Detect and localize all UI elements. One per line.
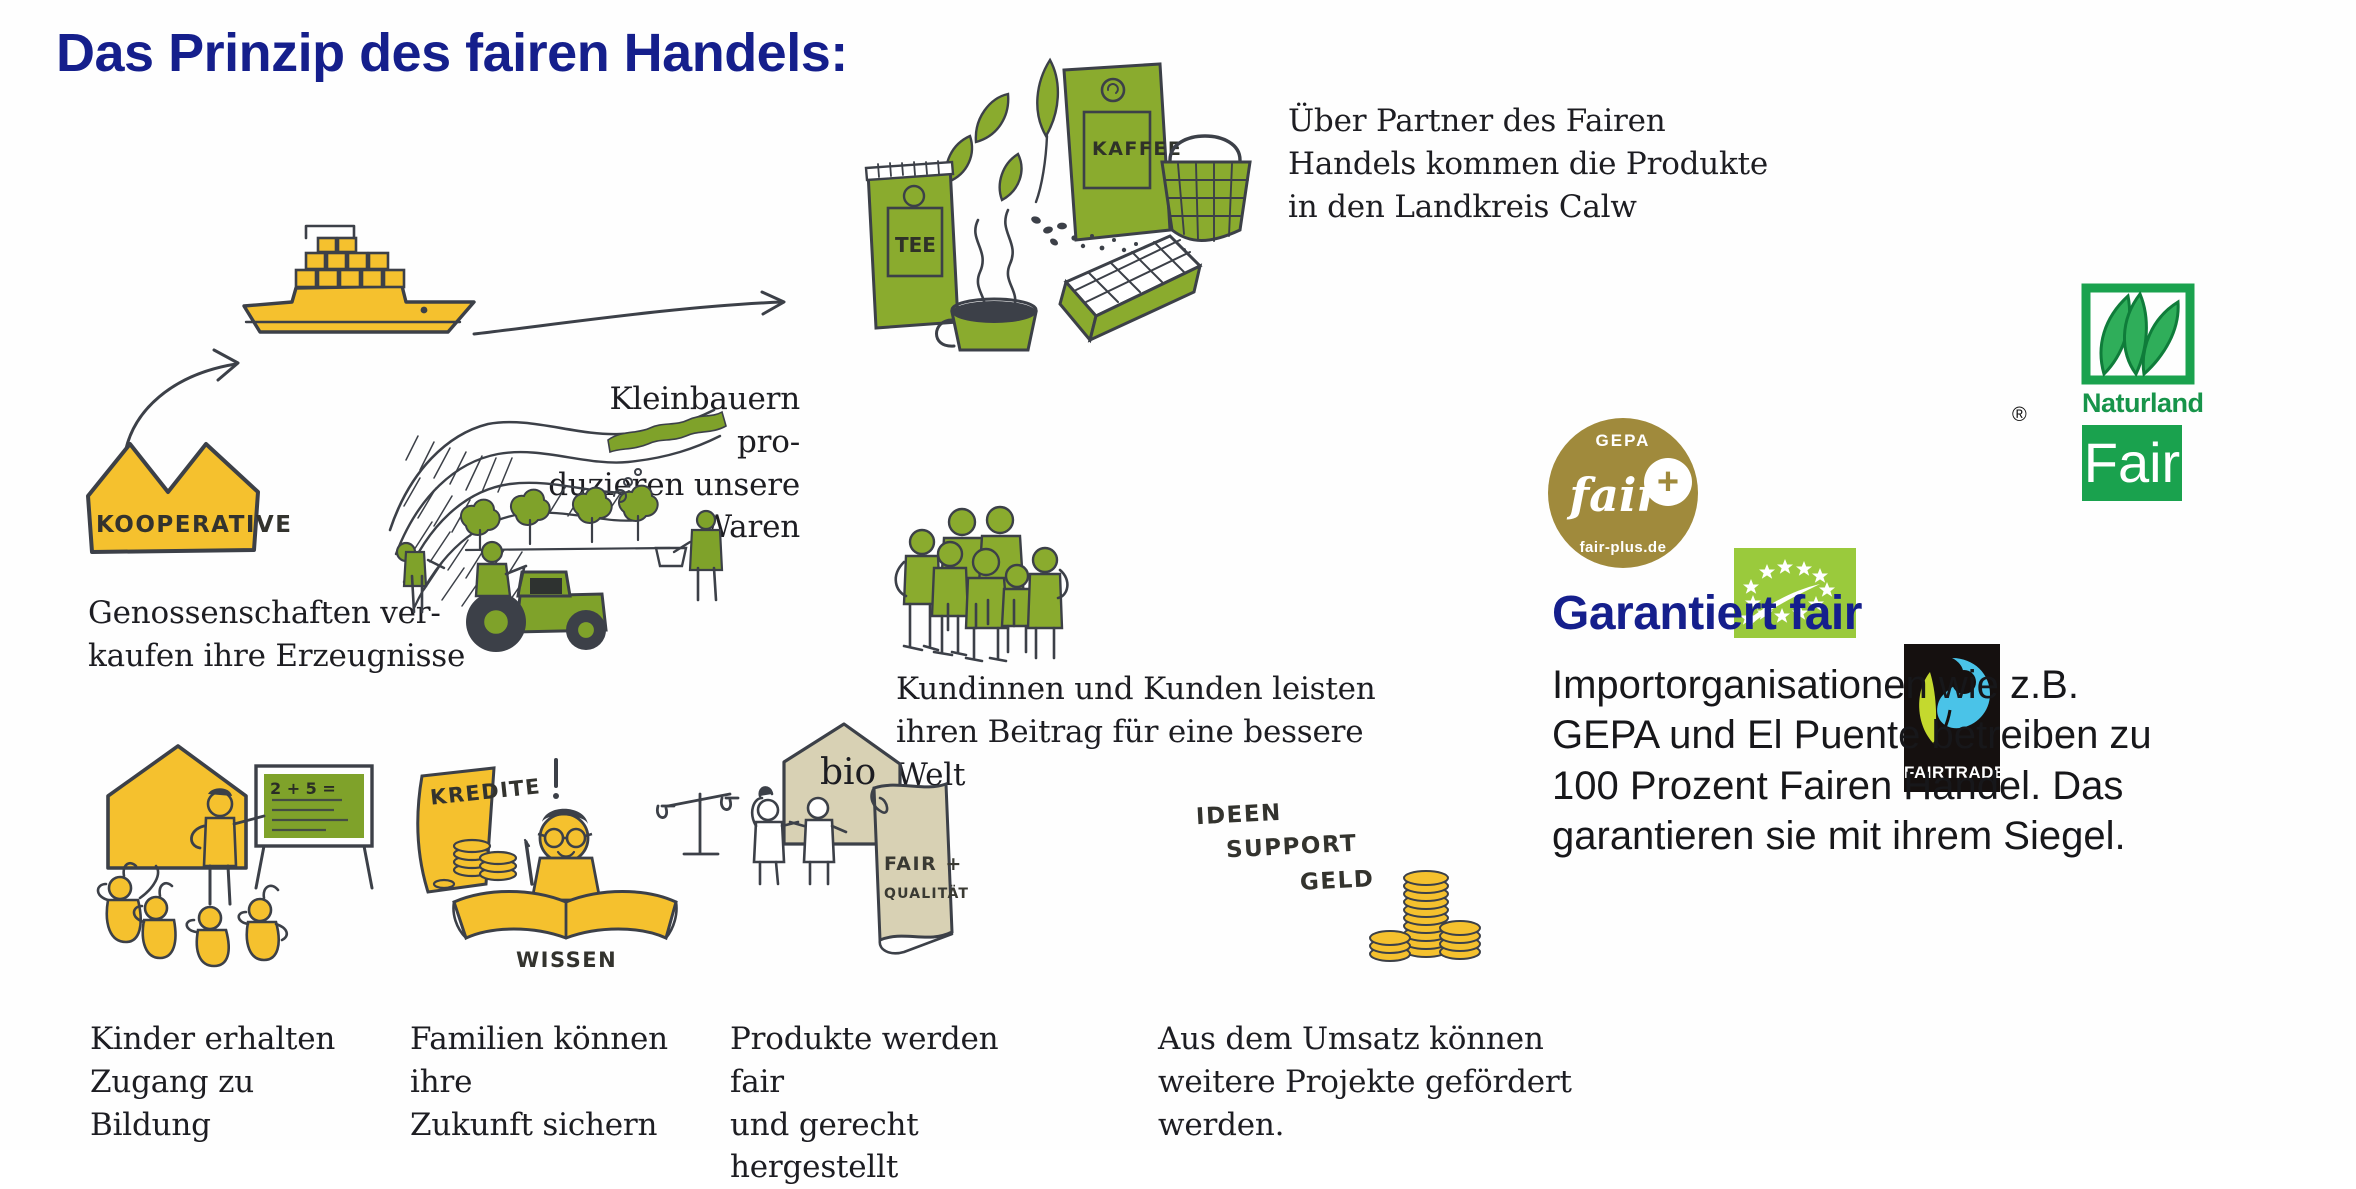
support-label: SUPPORT — [1225, 831, 1358, 864]
caption-partner-line-1: Über Partner des Fairen — [1288, 100, 1808, 143]
kooperative-label: KOOPERATIVE — [96, 512, 292, 538]
gepa-top-text: GEPA — [1548, 431, 1698, 451]
caption-produkte: Produkte werden fair und gerecht hergest… — [730, 1018, 1060, 1189]
logo-gepa-fair-plus[interactable]: GEPA fair + fair-plus.de — [1548, 418, 1698, 568]
bio-house-scroll-illustration: FAIR + QUALITÄT — [728, 722, 1098, 972]
guarantee-body-line-1: Importorganisationen wie z.B. — [1552, 660, 2312, 710]
guarantee-title: Garantiert fair — [1552, 586, 1862, 641]
bio-label: bio — [820, 752, 876, 793]
caption-umsatz-line-2: weitere Projekte gefördert werden. — [1158, 1061, 1678, 1147]
wissen-label: WISSEN — [516, 948, 617, 972]
caption-partner: Über Partner des Fairen Handels kommen d… — [1288, 100, 1808, 228]
guarantee-body-line-4: garantieren sie mit ihrem Siegel. — [1552, 811, 2312, 861]
guarantee-body-line-3: 100 Prozent Fairen Handel. Das — [1552, 761, 2312, 811]
credits-knowledge-illustration — [408, 742, 728, 972]
fairtrade-registered-icon: ® — [2012, 404, 2027, 427]
school-illustration: 2 + 5 = — [96, 738, 416, 978]
cargo-ship-illustration — [236, 236, 486, 346]
gepa-plus-symbol: + — [1644, 458, 1692, 506]
naturland-wordmark: Naturland — [2082, 388, 2200, 419]
caption-kundinnen-line-1: Kundinnen und Kunden leisten — [896, 668, 1416, 711]
naturland-fair-badge: Fair — [2082, 425, 2182, 501]
gepa-bottom-text: fair-plus.de — [1548, 539, 1698, 556]
naturland-leaves-icon — [2082, 284, 2200, 386]
caption-produkte-line-2: und gerecht hergestellt — [730, 1104, 1060, 1189]
ideen-label: IDEEN — [1195, 800, 1282, 830]
kooperative-house-illustration — [82, 430, 272, 560]
page-title: Das Prinzip des fairen Handels: — [56, 22, 848, 84]
fairtrade-products-illustration: KAFFEE TEE — [840, 50, 1260, 350]
scroll-fair-text: FAIR + — [884, 853, 963, 875]
caption-partner-line-2: Handels kommen die Produkte — [1288, 143, 1808, 186]
arrow-ship-to-products — [470, 290, 800, 350]
caption-bildung-line-2: Zugang zu Bildung — [90, 1061, 380, 1147]
caption-bildung-line-1: Kinder erhalten — [90, 1018, 380, 1061]
infographic-canvas: Das Prinzip des fairen Handels: — [0, 0, 2356, 1150]
scroll-qualitaet-text: QUALITÄT — [884, 885, 969, 902]
caption-familien: Familien können ihre Zukunft sichern — [410, 1018, 710, 1146]
caption-umsatz: Aus dem Umsatz können weitere Projekte g… — [1158, 1018, 1678, 1146]
caption-umsatz-line-1: Aus dem Umsatz können — [1158, 1018, 1678, 1061]
naturland-fair-text: Fair — [2084, 435, 2180, 491]
caption-produkte-line-1: Produkte werden fair — [730, 1018, 1060, 1104]
geld-label: GELD — [1299, 866, 1375, 896]
caption-partner-line-3: in den Landkreis Calw — [1288, 186, 1808, 229]
guarantee-body-line-2: GEPA und El Puente betreiben zu — [1552, 710, 2312, 760]
coin-stacks-illustration — [1368, 862, 1498, 972]
tee-label: TEE — [895, 233, 936, 257]
farm-terraces-illustration — [370, 400, 790, 670]
caption-familien-line-1: Familien können ihre — [410, 1018, 710, 1104]
customers-crowd-illustration — [900, 500, 1150, 680]
caption-familien-line-2: Zukunft sichern — [410, 1104, 710, 1147]
blackboard-text: 2 + 5 = — [270, 779, 336, 798]
logo-naturland-fair[interactable]: Naturland Fair — [2082, 284, 2214, 501]
caption-bildung: Kinder erhalten Zugang zu Bildung — [90, 1018, 380, 1146]
guarantee-body: Importorganisationen wie z.B. GEPA und E… — [1552, 660, 2312, 862]
